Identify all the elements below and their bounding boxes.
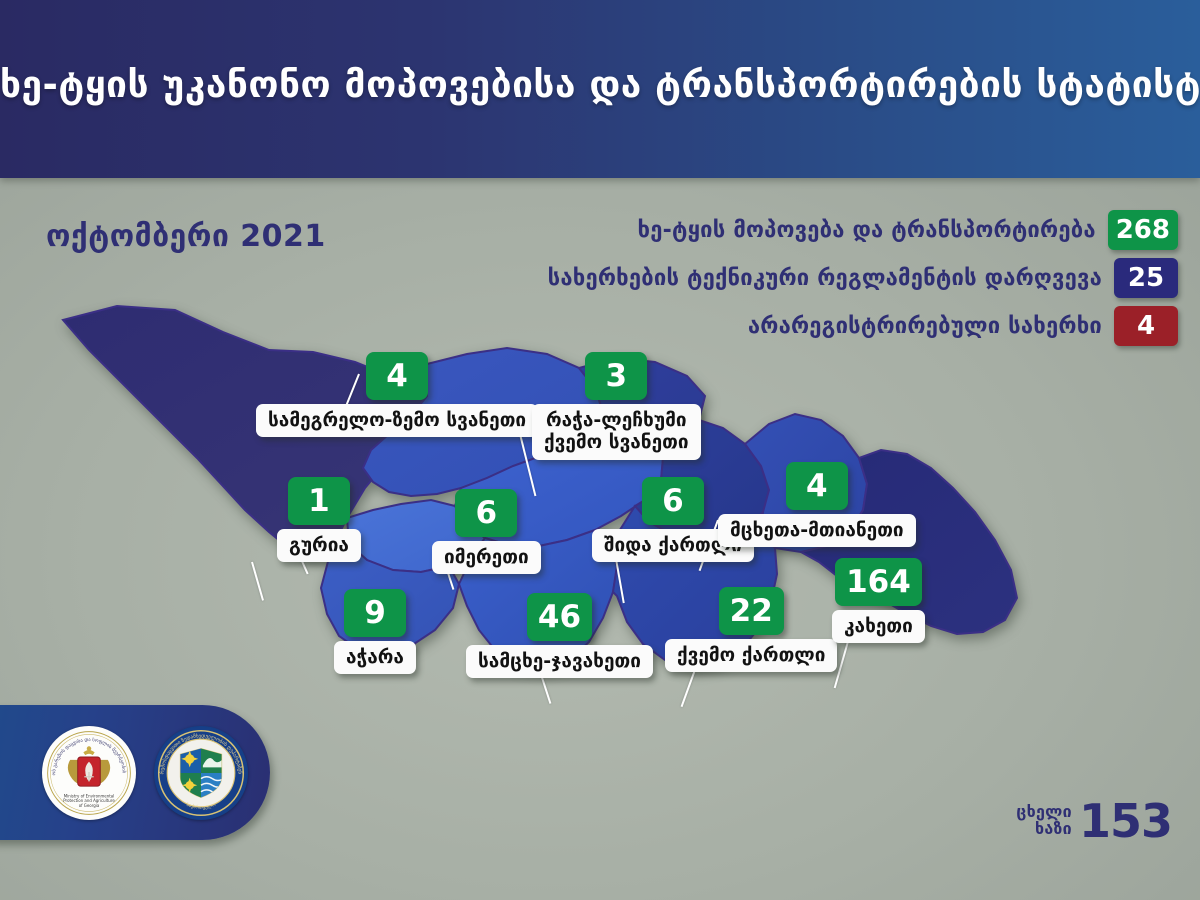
legend-row: ხე-ტყის მოპოვება და ტრანსპორტირება 268 bbox=[638, 210, 1178, 250]
region-count-badge: 1 bbox=[288, 477, 350, 525]
region-count-badge: 6 bbox=[455, 489, 517, 537]
region-name-plate: სამცხე-ჯავახეთი bbox=[466, 645, 653, 678]
region-name-line-2: ქვემო სვანეთი bbox=[544, 431, 689, 453]
hotline-word-2: ხაზი bbox=[1016, 821, 1072, 838]
region-name-line-1: რაჭა-ლეჩხუმი bbox=[546, 409, 687, 431]
region-name-plate: მცხეთა-მთიანეთი bbox=[718, 514, 916, 547]
region-name-plate: სამეგრელო-ზემო სვანეთი bbox=[256, 404, 538, 437]
ministry-of-environment-seal-icon: Ministry of Environmental Protection and… bbox=[42, 726, 136, 820]
seal-graphic: გარემოსდაცვითი ზედამხედველობის დეპარტამე… bbox=[154, 726, 248, 820]
callout-samtskhe-javakheti[interactable]: 46 სამცხე-ჯავახეთი bbox=[466, 593, 653, 678]
region-count-badge: 9 bbox=[344, 589, 406, 637]
callout-mtskheta-mtianeti[interactable]: 4 მცხეთა-მთიანეთი bbox=[718, 462, 916, 547]
region-name-plate: რაჭა-ლეჩხუმი ქვემო სვანეთი bbox=[532, 404, 701, 460]
hotline: ცხელი ხაზი 153 bbox=[1016, 800, 1172, 842]
date-label: ოქტომბერი 2021 bbox=[46, 219, 326, 254]
callout-imereti[interactable]: 6 იმერეთი bbox=[432, 489, 541, 574]
hotline-words: ცხელი ხაზი bbox=[1016, 804, 1072, 837]
legend-value-badge: 4 bbox=[1114, 306, 1178, 346]
legend-value-badge: 25 bbox=[1114, 258, 1178, 298]
callout-racha-lechkhumi[interactable]: 3 რაჭა-ლეჩხუმი ქვემო სვანეთი bbox=[532, 352, 701, 460]
region-count-badge: 4 bbox=[366, 352, 428, 400]
infographic-poster: ხე-ტყის უკანონო მოპოვებისა და ტრანსპორტი… bbox=[0, 0, 1200, 900]
header-banner: ხე-ტყის უკანონო მოპოვებისა და ტრანსპორტი… bbox=[0, 0, 1200, 178]
svg-text:of Georgia: of Georgia bbox=[79, 802, 100, 807]
callout-kakheti[interactable]: 164 კახეთი bbox=[832, 558, 925, 643]
region-name-plate: გურია bbox=[277, 529, 361, 562]
region-count-badge: 3 bbox=[585, 352, 647, 400]
region-count-badge: 6 bbox=[642, 477, 704, 525]
region-name-plate: კახეთი bbox=[832, 610, 925, 643]
region-count-badge: 46 bbox=[527, 593, 592, 641]
region-count-badge: 22 bbox=[719, 587, 784, 635]
callout-samegrelo-zemo-svaneti[interactable]: 4 სამეგრელო-ზემო სვანეთი bbox=[256, 352, 538, 437]
legend-value-badge: 268 bbox=[1108, 210, 1178, 250]
region-count-badge: 4 bbox=[786, 462, 848, 510]
legend-label: ხე-ტყის მოპოვება და ტრანსპორტირება bbox=[638, 218, 1096, 243]
region-name-plate: აჭარა bbox=[334, 641, 416, 674]
region-name-plate: ქვემო ქართლი bbox=[665, 639, 837, 672]
callout-adjara[interactable]: 9 აჭარა bbox=[334, 589, 416, 674]
legend-label: სახერხების ტექნიკური რეგლამენტის დარღვევ… bbox=[548, 266, 1102, 291]
ministry-logo-pill: Ministry of Environmental Protection and… bbox=[0, 705, 270, 840]
region-name-plate: იმერეთი bbox=[432, 541, 541, 574]
seal-graphic: Ministry of Environmental Protection and… bbox=[42, 726, 136, 820]
hotline-number: 153 bbox=[1079, 800, 1172, 842]
environmental-supervision-seal-icon: გარემოსდაცვითი ზედამხედველობის დეპარტამე… bbox=[154, 726, 248, 820]
page-title: ხე-ტყის უკანონო მოპოვებისა და ტრანსპორტი… bbox=[0, 63, 1200, 106]
region-count-badge: 164 bbox=[835, 558, 922, 606]
callout-guria[interactable]: 1 გურია bbox=[277, 477, 361, 562]
callout-kvemo-kartli[interactable]: 22 ქვემო ქართლი bbox=[665, 587, 837, 672]
